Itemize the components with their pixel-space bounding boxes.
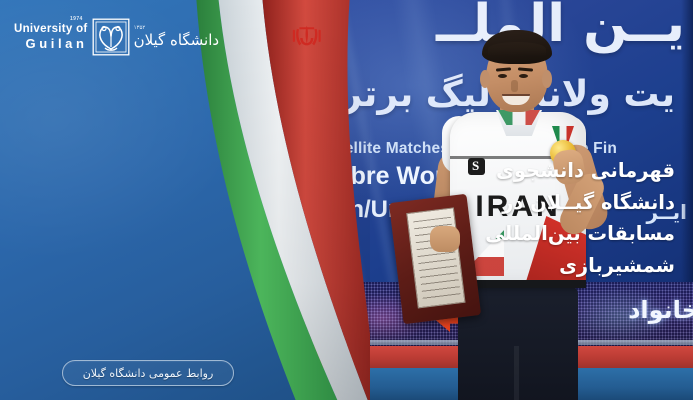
banner-root: یــن الملــ یت وﻻنال لیگ برتر Satellite … <box>0 0 693 400</box>
page-title: قهرمانی دانشجوی دانشگاه گیــلان در مسابق… <box>461 155 675 281</box>
athlete-eye-right <box>519 74 528 78</box>
headline-line-2: دانشگاه گیــلان در <box>461 187 675 219</box>
logo-english-line2: Guilan <box>14 37 88 51</box>
athlete-ear-left <box>480 70 490 88</box>
athlete-ear-right <box>542 70 552 88</box>
logo-english-text: 1974 University of Guilan <box>14 23 88 50</box>
backdrop-edge-shadow <box>681 0 693 330</box>
logo-english-line1: University of <box>14 23 88 35</box>
athlete-left-hand <box>430 226 460 252</box>
headline-line-3: مسابقات بین‌المللی <box>461 218 675 250</box>
public-relations-badge[interactable]: روابط عمومی دانشگاه گیلان <box>62 360 234 386</box>
athlete-nose <box>511 80 518 92</box>
athlete-eye-left <box>498 74 507 78</box>
logo-persian-text: ۱۳۵۲ دانشگاه گیلان <box>134 25 220 49</box>
led-sponsor-persian-right: خانواد <box>628 296 693 324</box>
logo-founding-year-en: 1974 <box>70 17 83 22</box>
university-of-guilan-logo[interactable]: 1974 University of Guilan ۱۳۵۲ دانشگاه گ… <box>14 18 219 56</box>
public-relations-badge-label: روابط عمومی دانشگاه گیلان <box>83 367 214 380</box>
headline-line-1: قهرمانی دانشجوی <box>461 155 675 187</box>
panel-edge-shadow <box>300 0 318 400</box>
headline-line-4: شمشیربازی <box>461 250 675 282</box>
left-blue-panel <box>0 0 300 400</box>
logo-persian-name: دانشگاه گیلان <box>134 32 220 49</box>
guilan-emblem-icon <box>92 18 130 56</box>
plaque-certificate <box>406 207 465 308</box>
